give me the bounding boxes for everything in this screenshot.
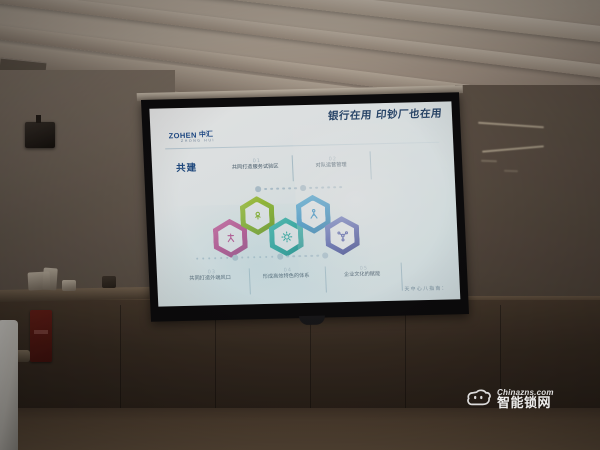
rail-node-teal: [277, 254, 283, 260]
callout-separator: [401, 263, 403, 291]
slide-content: 银行在用 印钞厂也在用 ZOHEN 中汇 ZHONG HUI 共建 01 共同打…: [149, 101, 460, 306]
handshake-icon: [224, 232, 238, 245]
rail-node-green: [255, 186, 261, 192]
callout-top-1: 01 共同打造服务试验区: [224, 157, 291, 172]
rail-dot: [309, 186, 311, 188]
cloud-panda-icon: [466, 388, 492, 410]
rail-dot: [202, 257, 204, 259]
network-icon: [336, 229, 350, 242]
rail-dot: [220, 257, 222, 259]
rail-dot: [264, 188, 266, 190]
standing-person: [0, 320, 18, 450]
rail-dot: [316, 254, 318, 256]
panel-seam: [405, 305, 406, 413]
top-dot-rail: [255, 184, 342, 192]
hexagon-inner: [301, 200, 326, 229]
callout-text: 共同打造服务试验区: [224, 163, 286, 172]
rail-dot: [247, 256, 249, 258]
callout-bottom-2: 04 形成高效特色的体系: [255, 267, 322, 282]
callout-text: 共同打造外端风口: [179, 275, 241, 284]
slide-footer: 天中心八指南：: [404, 285, 448, 293]
hexagon-inner: [218, 224, 243, 253]
wall-speaker: [25, 122, 55, 148]
callout-separator: [292, 155, 294, 181]
callout-bottom-1: 03 共同打造外端风口: [179, 268, 246, 283]
section-title: 共建: [176, 160, 198, 174]
ledge-object: [62, 280, 76, 291]
rail-dot: [321, 186, 323, 188]
rail-dot: [315, 186, 317, 188]
person-icon: [307, 208, 321, 221]
rail-dot: [196, 257, 198, 259]
panel-seam: [215, 305, 216, 413]
callout-bottom-3: 05 企业文化的赋能: [331, 265, 398, 280]
rail-dot: [265, 256, 267, 258]
hexagon-inner: [330, 221, 355, 250]
watermark: Chinazns.com 智能锁网: [466, 388, 554, 410]
bottom-dot-rail: [196, 252, 328, 261]
rail-node-blue: [300, 185, 306, 191]
photo-canvas: 银行在用 印钞厂也在用 ZOHEN 中汇 ZHONG HUI 共建 01 共同打…: [0, 0, 600, 450]
projection-screen: 银行在用 印钞厂也在用 ZOHEN 中汇 ZHONG HUI 共建 01 共同打…: [141, 92, 469, 322]
rail-dot: [333, 186, 335, 188]
callout-separator: [249, 268, 251, 294]
rail-dot: [304, 255, 306, 257]
rail-dot: [241, 256, 243, 258]
sun-gear-icon: [280, 230, 294, 243]
watermark-name: 智能锁网: [497, 397, 554, 410]
rail-dot: [214, 257, 216, 259]
logo-subtitle: ZHONG HUI: [181, 138, 215, 143]
callout-separator: [370, 151, 372, 179]
rail-dot: [208, 257, 210, 259]
watermark-text: Chinazns.com 智能锁网: [497, 389, 554, 410]
ledge-object: [102, 276, 116, 288]
fire-extinguisher-cabinet: [30, 310, 52, 362]
rail-dot: [270, 187, 272, 189]
callout-text: 企业文化的赋能: [331, 271, 393, 280]
rail-dot: [298, 255, 300, 257]
rail-dot: [259, 256, 261, 258]
rail-node-pink: [232, 255, 238, 261]
rail-dot: [253, 256, 255, 258]
slide-kicker: 银行在用 印钞厂也在用: [327, 106, 442, 124]
header-divider: [165, 142, 439, 150]
rail-node-violet: [322, 252, 328, 258]
wall-light-streak: [504, 170, 518, 172]
callout-text: 对队运营管理: [300, 162, 362, 171]
rail-dot: [286, 255, 288, 257]
rail-dot: [271, 255, 273, 257]
callout-top-2: 02 对队运营管理: [300, 156, 367, 171]
rail-dot: [226, 256, 228, 258]
rail-dot: [327, 186, 329, 188]
panel-seam: [120, 305, 121, 413]
ledge-object: [42, 268, 58, 291]
gear-hand-icon: [251, 209, 265, 222]
rail-dot: [288, 187, 290, 189]
hexagon-inner: [245, 201, 270, 230]
callout-separator: [325, 266, 327, 292]
floor: [0, 408, 600, 450]
rail-dot: [292, 255, 294, 257]
rail-dot: [339, 186, 341, 188]
rail-dot: [310, 254, 312, 256]
hexagon-inner: [274, 223, 299, 252]
rail-dot: [282, 187, 284, 189]
rail-dot: [276, 187, 278, 189]
callout-text: 形成高效特色的体系: [255, 273, 317, 282]
rail-dot: [294, 187, 296, 189]
